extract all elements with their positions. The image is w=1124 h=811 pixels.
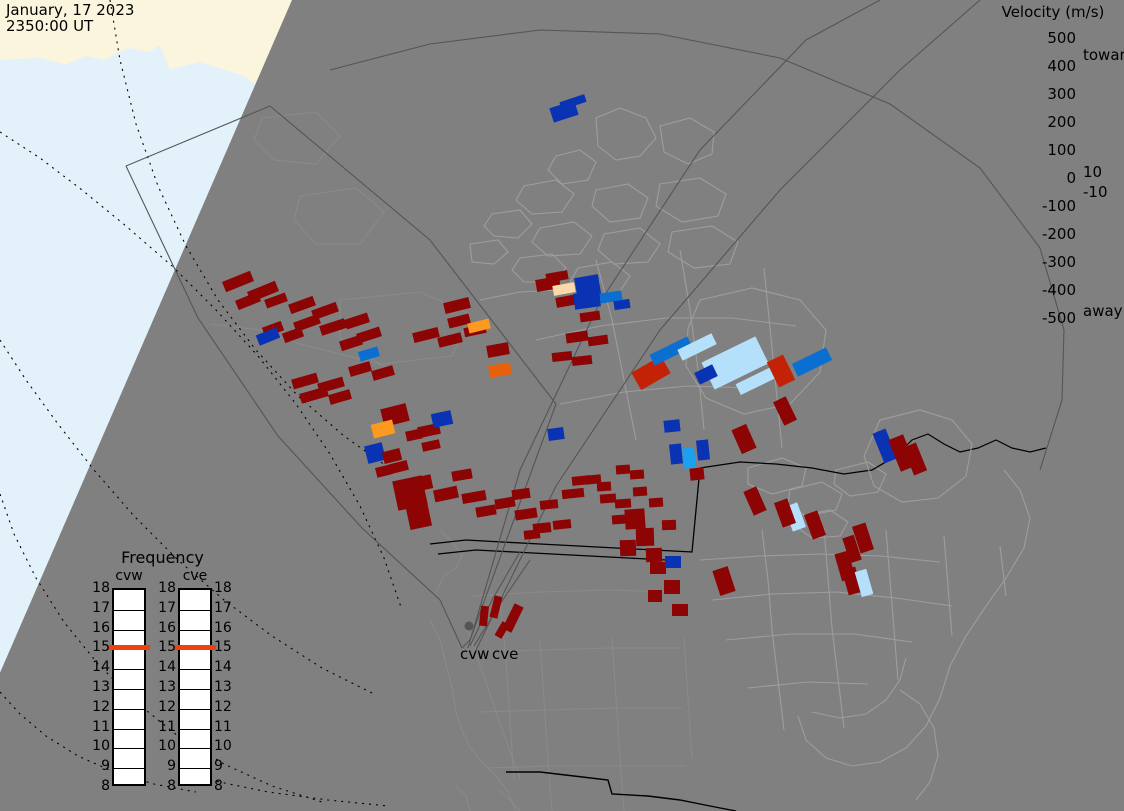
colorbar-toward-label: toward — [1083, 46, 1124, 64]
frequency-tick-label: 18 — [88, 580, 110, 596]
frequency-gridline — [114, 709, 144, 710]
colorbar-tick-label: -300 — [1028, 253, 1076, 271]
frequency-tick-label: 17 — [154, 600, 176, 616]
velocity-cell — [597, 482, 612, 492]
velocity-colorbar: Velocity (m/s) 5004003002001000-100-200-… — [977, 0, 1124, 340]
frequency-gridline — [180, 748, 210, 749]
timestamp-block: January, 17 20232350:00 UT — [6, 2, 134, 34]
frequency-gridline — [114, 669, 144, 670]
velocity-cell — [646, 548, 662, 563]
timestamp-time: 2350:00 UT — [6, 17, 93, 35]
frequency-tick-label: 17 — [88, 600, 110, 616]
velocity-cell — [553, 519, 572, 530]
velocity-cell — [650, 562, 666, 574]
frequency-title: Frequency — [90, 548, 235, 567]
velocity-cell — [633, 487, 648, 497]
frequency-marker-cvw — [108, 645, 150, 650]
frequency-tick-label: 10 — [214, 738, 236, 754]
frequency-scale-cve — [178, 588, 212, 786]
colorbar-tick-label: -400 — [1028, 281, 1076, 299]
velocity-cell — [696, 439, 710, 460]
frequency-tick-label: 14 — [88, 659, 110, 675]
velocity-cell — [636, 528, 655, 547]
frequency-tick-label: 13 — [214, 679, 236, 695]
frequency-tick-label: 10 — [88, 738, 110, 754]
frequency-legend: Frequency cvwcve181818171717161616151515… — [90, 548, 235, 788]
radar-site-marker — [465, 622, 474, 631]
frequency-gridline — [114, 689, 144, 690]
velocity-cell — [540, 499, 559, 510]
frequency-tick-label: 12 — [154, 699, 176, 715]
frequency-gridline — [180, 729, 210, 730]
frequency-tick-label: 8 — [88, 778, 110, 794]
frequency-tick-label: 13 — [154, 679, 176, 695]
frequency-gridline — [180, 689, 210, 690]
velocity-cell — [672, 604, 688, 616]
frequency-tick-label: 8 — [214, 778, 236, 794]
frequency-tick-label: 15 — [154, 639, 176, 655]
velocity-cell — [406, 504, 432, 530]
frequency-tick-label: 12 — [88, 699, 110, 715]
frequency-tick-label: 9 — [154, 758, 176, 774]
frequency-tick-label: 14 — [214, 659, 236, 675]
frequency-tick-label: 10 — [154, 738, 176, 754]
frequency-tick-label: 15 — [214, 639, 236, 655]
frequency-gridline — [114, 729, 144, 730]
velocity-cell — [547, 427, 565, 441]
frequency-tick-label: 13 — [88, 679, 110, 695]
frequency-gridline — [180, 669, 210, 670]
colorbar-positive-threshold-label: 10 — [1083, 163, 1102, 181]
colorbar-negative-threshold-label: -10 — [1083, 183, 1108, 201]
frequency-gridline — [114, 768, 144, 769]
frequency-tick-label: 18 — [214, 580, 236, 596]
velocity-cell — [682, 447, 696, 468]
frequency-tick-label: 11 — [88, 719, 110, 735]
frequency-tick-label: 9 — [214, 758, 236, 774]
frequency-tick-label: 11 — [154, 719, 176, 735]
colorbar-away-label: away — [1083, 302, 1123, 320]
velocity-cell — [612, 515, 627, 525]
colorbar-tick-label: 100 — [1028, 141, 1076, 159]
velocity-cell — [600, 493, 617, 503]
radar-site-label-cvw: cvw — [460, 645, 489, 663]
velocity-cell — [669, 443, 683, 464]
frequency-tick-label: 14 — [154, 659, 176, 675]
velocity-cell — [648, 590, 662, 602]
frequency-tick-label: 11 — [214, 719, 236, 735]
frequency-tick-label: 17 — [214, 600, 236, 616]
radar-site-label-cve: cve — [492, 645, 518, 663]
velocity-cell — [689, 467, 704, 480]
frequency-gridline — [114, 748, 144, 749]
velocity-cell — [649, 498, 664, 508]
frequency-gridline — [180, 610, 210, 611]
velocity-cell — [662, 520, 676, 530]
frequency-marker-cve — [174, 645, 216, 650]
velocity-cell — [663, 419, 680, 433]
superdarn-velocity-map: January, 17 20232350:00 UT Velocity (m/s… — [0, 0, 1124, 811]
frequency-tick-label: 9 — [88, 758, 110, 774]
velocity-cell — [624, 508, 645, 529]
velocity-cell — [524, 529, 541, 540]
frequency-gridline — [180, 630, 210, 631]
colorbar-tick-label: -100 — [1028, 197, 1076, 215]
colorbar-title: Velocity (m/s) — [982, 3, 1124, 21]
velocity-cell — [615, 498, 632, 508]
velocity-cell — [630, 470, 645, 480]
frequency-gridline — [114, 610, 144, 611]
frequency-gridline — [180, 709, 210, 710]
frequency-tick-label: 16 — [88, 620, 110, 636]
frequency-tick-label: 16 — [154, 620, 176, 636]
frequency-gridline — [180, 768, 210, 769]
colorbar-tick-label: 400 — [1028, 57, 1076, 75]
colorbar-tick-label: 0 — [1028, 169, 1076, 187]
colorbar-tick-label: 300 — [1028, 85, 1076, 103]
colorbar-tick-label: -500 — [1028, 309, 1076, 327]
frequency-tick-label: 12 — [214, 699, 236, 715]
velocity-cell — [665, 556, 681, 568]
frequency-tick-label: 15 — [88, 639, 110, 655]
frequency-tick-label: 16 — [214, 620, 236, 636]
frequency-tick-label: 18 — [154, 580, 176, 596]
colorbar-tick-label: 500 — [1028, 29, 1076, 47]
colorbar-tick-label: 200 — [1028, 113, 1076, 131]
velocity-cell — [664, 580, 680, 594]
frequency-gridline — [114, 630, 144, 631]
frequency-tick-label: 8 — [154, 778, 176, 794]
colorbar-tick-label: -200 — [1028, 225, 1076, 243]
velocity-cell — [620, 540, 637, 557]
velocity-cell — [616, 465, 631, 475]
frequency-scale-cvw — [112, 588, 146, 786]
